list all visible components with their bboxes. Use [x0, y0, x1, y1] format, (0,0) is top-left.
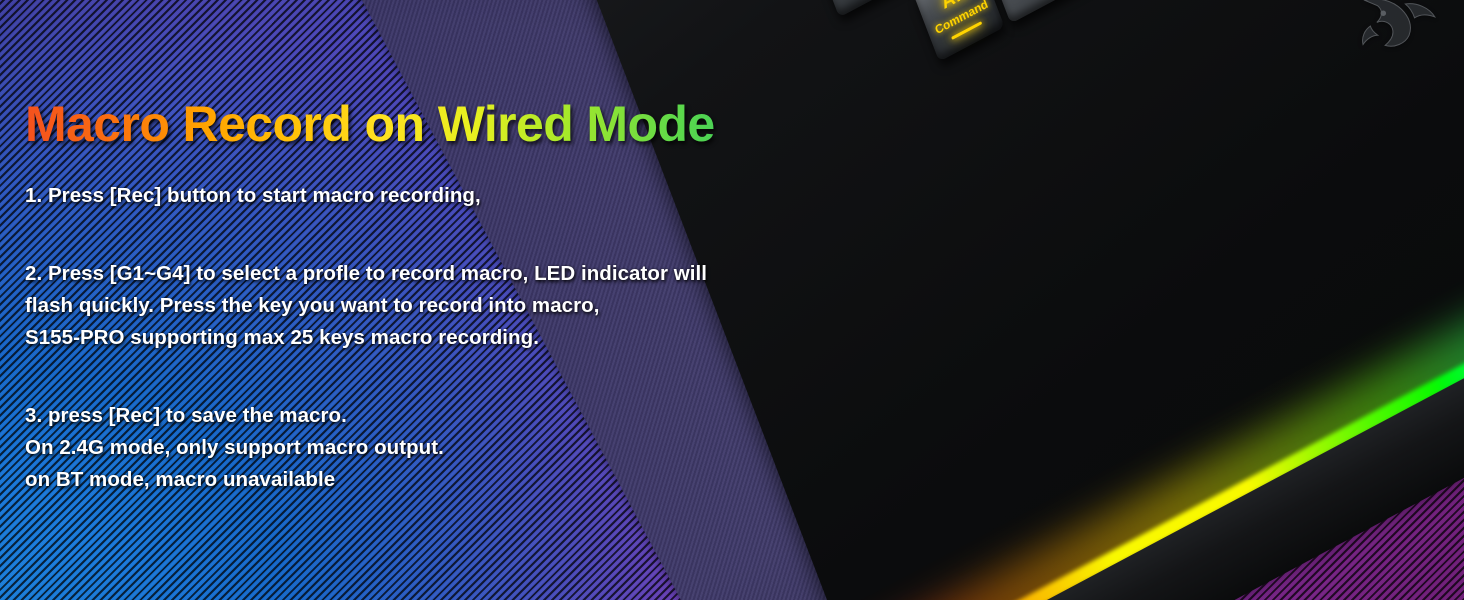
instruction-list: 1. Press [Rec] button to start macro rec…	[25, 180, 885, 496]
promo-banner: ☼M◀▶↻▶‖☀ G1G2G3G4Rec 1 !F12 @F23 #F34 $F…	[0, 0, 1464, 600]
instruction-line: on BT mode, macro unavailable	[25, 464, 885, 496]
banner-title: Macro Record on Wired Mode	[25, 98, 885, 150]
instruction-line: 3. press [Rec] to save the macro.	[25, 400, 885, 432]
instruction-line: On 2.4G mode, only support macro output.	[25, 432, 885, 464]
copy-block: Macro Record on Wired Mode 1. Press [Rec…	[25, 0, 885, 496]
instruction-step-2: 2. Press [G1~G4] to select a profle to r…	[25, 258, 885, 354]
dragon-logo-icon	[1352, 0, 1444, 60]
instruction-step-1: 1. Press [Rec] button to start macro rec…	[25, 180, 885, 212]
instruction-line: 2. Press [G1~G4] to select a profle to r…	[25, 258, 885, 290]
instruction-step-3: 3. press [Rec] to save the macro.On 2.4G…	[25, 400, 885, 496]
instruction-line: S155-PRO supporting max 25 keys macro re…	[25, 322, 885, 354]
instruction-line: flash quickly. Press the key you want to…	[25, 290, 885, 322]
instruction-line: 1. Press [Rec] button to start macro rec…	[25, 180, 885, 212]
